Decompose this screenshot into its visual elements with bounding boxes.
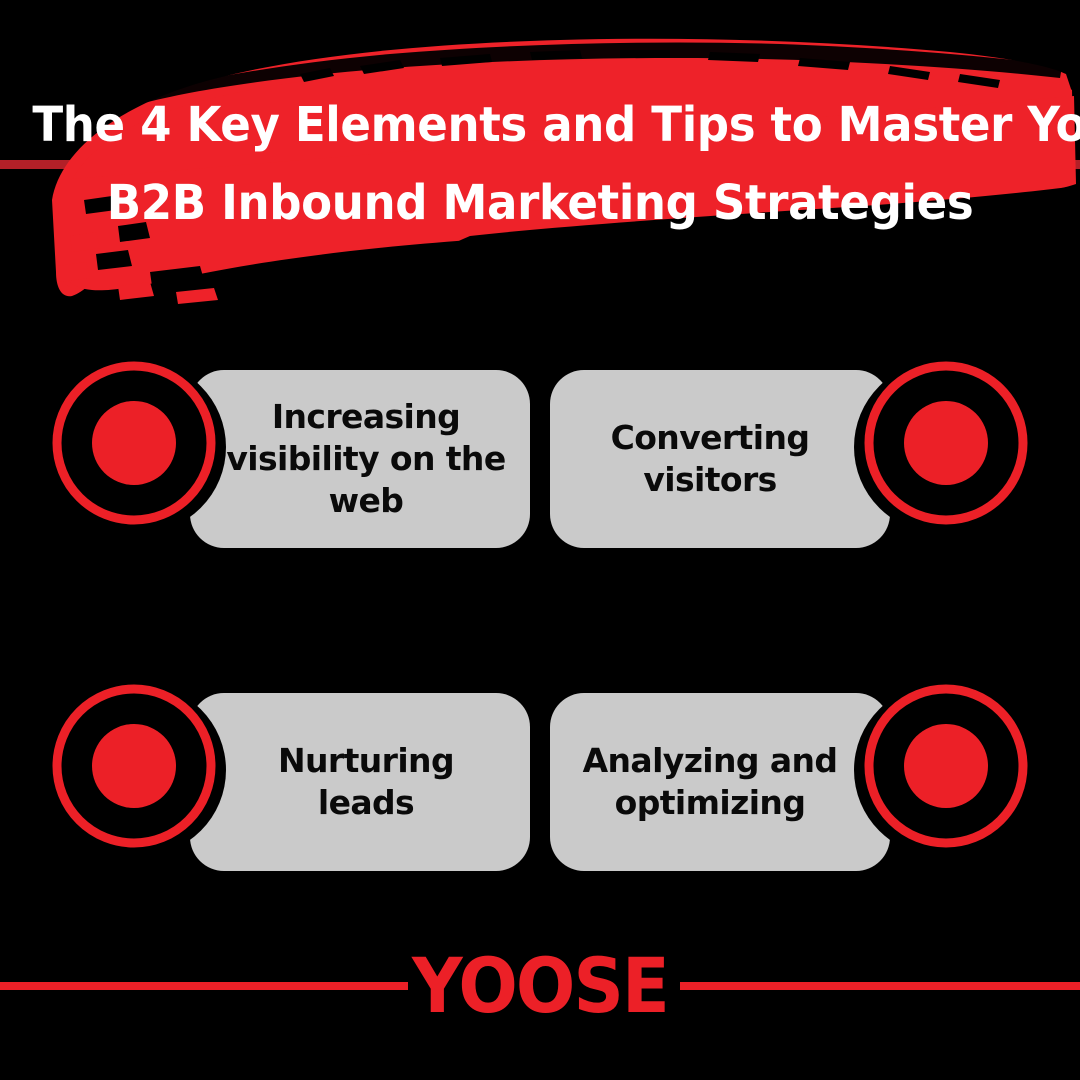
target-dot-icon: [46, 355, 226, 535]
element-card-3[interactable]: Nurturing leads: [46, 678, 536, 878]
card-label: Increasing visibility on the web: [216, 370, 516, 548]
key-elements-grid: Increasing visibility on the web Convert…: [0, 340, 1080, 900]
header-banner: The 4 Key Elements and Tips to Master Yo…: [0, 0, 1080, 320]
element-card-1[interactable]: Increasing visibility on the web: [46, 355, 536, 555]
infographic-canvas: The 4 Key Elements and Tips to Master Yo…: [0, 0, 1080, 1080]
element-card-2[interactable]: Converting visitors: [544, 355, 1034, 555]
target-dot-icon: [854, 678, 1034, 858]
card-label: Analyzing and optimizing: [560, 693, 860, 871]
element-card-4[interactable]: Analyzing and optimizing: [544, 678, 1034, 878]
brand-logo: YOOSE: [43, 938, 1037, 1034]
footer: YOOSE: [0, 930, 1080, 1040]
card-label: Converting visitors: [560, 370, 860, 548]
target-dot-icon: [46, 678, 226, 858]
page-title: The 4 Key Elements and Tips to Master Yo…: [0, 86, 1080, 242]
card-label: Nurturing leads: [216, 693, 516, 871]
target-dot-icon: [854, 355, 1034, 535]
title-line-2: B2B Inbound Marketing Strategies: [32, 164, 1047, 242]
title-line-1: The 4 Key Elements and Tips to Master Yo…: [32, 86, 1047, 164]
